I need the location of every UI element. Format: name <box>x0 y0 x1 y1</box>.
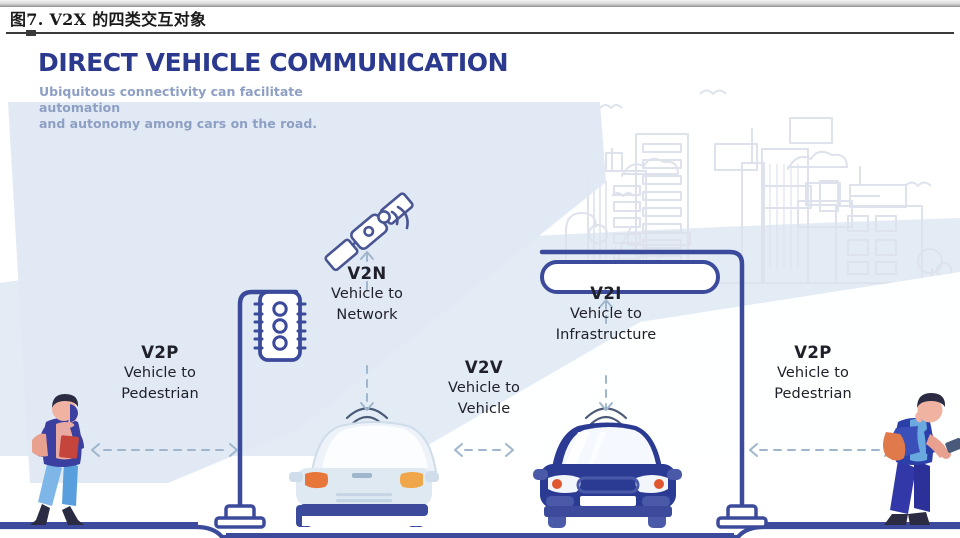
subtitle-line-2: and autonomy among cars on the road. <box>39 116 379 132</box>
subtitle-line-1: Ubiquitous connectivity can facilitate a… <box>39 84 379 116</box>
label-v2n-code: V2N <box>292 264 442 284</box>
label-v2i-line2: Infrastructure <box>526 325 686 346</box>
page-title: DIRECT VEHICLE COMMUNICATION <box>38 48 508 77</box>
roadway-surface <box>226 533 734 538</box>
figure-caption: 图7. V2X 的四类交互对象 <box>10 6 950 30</box>
figure-page: 图7. V2X 的四类交互对象 <box>0 0 960 538</box>
label-v2p-right-line2: Pedestrian <box>738 384 888 405</box>
label-v2v-code: V2V <box>409 358 559 378</box>
label-v2v-line2: Vehicle <box>409 399 559 420</box>
label-v2n-line2: Network <box>292 305 442 326</box>
label-v2n: V2N Vehicle to Network <box>292 264 442 326</box>
label-v2p-left-code: V2P <box>85 343 235 363</box>
infographic-stage: DIRECT VEHICLE COMMUNICATION Ubiquitous … <box>0 36 960 538</box>
sidewalk-right <box>762 522 960 527</box>
label-v2p-left: V2P Vehicle to Pedestrian <box>85 343 235 405</box>
label-v2p-right-line1: Vehicle to <box>738 363 888 384</box>
label-v2i-code: V2I <box>526 284 686 304</box>
label-v2p-right: V2P Vehicle to Pedestrian <box>738 343 888 405</box>
label-v2v: V2V Vehicle to Vehicle <box>409 358 559 420</box>
label-v2v-line1: Vehicle to <box>409 378 559 399</box>
label-v2n-line1: Vehicle to <box>292 284 442 305</box>
label-v2i: V2I Vehicle to Infrastructure <box>526 284 686 346</box>
label-v2p-left-line1: Vehicle to <box>85 363 235 384</box>
label-v2i-line1: Vehicle to <box>526 304 686 325</box>
sidewalk-left <box>0 522 198 527</box>
caption-divider <box>6 32 954 34</box>
label-v2p-right-code: V2P <box>738 343 888 363</box>
label-v2p-left-line2: Pedestrian <box>85 384 235 405</box>
page-subtitle: Ubiquitous connectivity can facilitate a… <box>39 84 379 132</box>
